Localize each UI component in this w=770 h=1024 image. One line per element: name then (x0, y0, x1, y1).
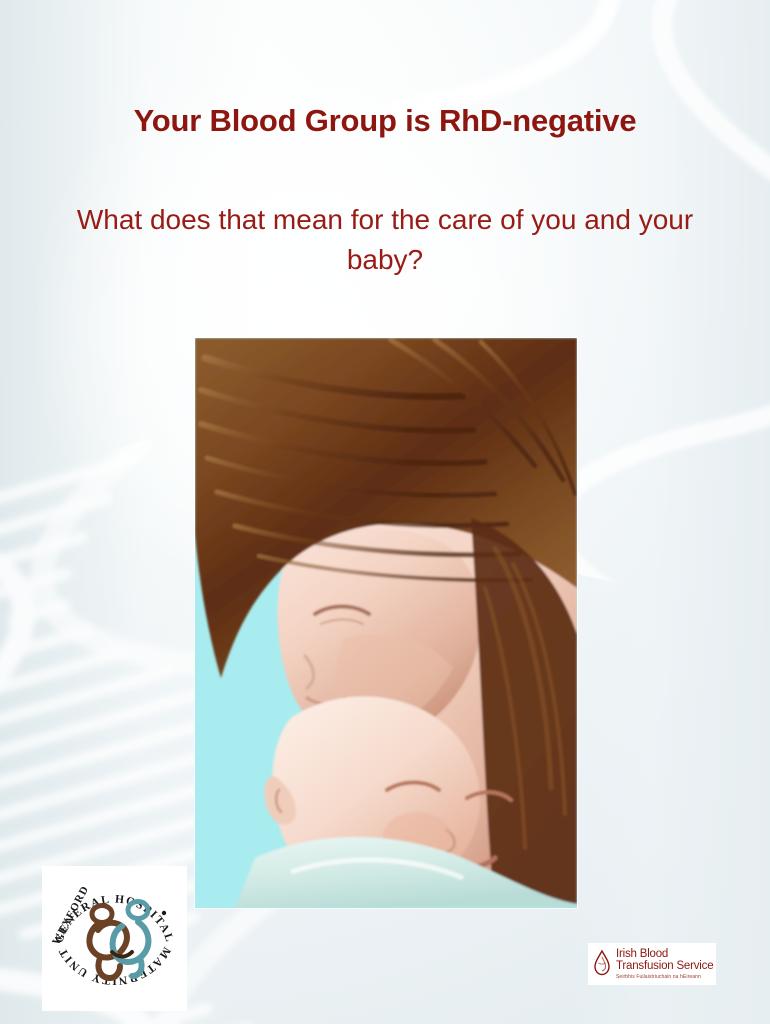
leaflet-cover-page: Your Blood Group is RhD-negative What do… (0, 0, 770, 1024)
ibts-line-2: Transfusion Service (616, 960, 713, 973)
irish-blood-transfusion-service-logo: Irish Blood Transfusion Service Seirbhis… (588, 943, 716, 985)
page-title: Your Blood Group is RhD-negative (0, 103, 770, 139)
ibts-irish-line: Seirbhis Fuilaistriuchain na hEireann (616, 974, 713, 981)
wexford-general-hospital-logo: GENERAL HOSPITAL MATERNITY UNIT WEXFORD (42, 866, 187, 1011)
ibts-emblem-icon (591, 949, 613, 979)
cover-photo-mother-and-baby (195, 338, 577, 908)
ibts-line-1: Irish Blood (616, 948, 713, 961)
ibts-wordmark: Irish Blood Transfusion Service Seirbhis… (616, 948, 713, 981)
page-subtitle: What does that mean for the care of you … (60, 200, 710, 280)
